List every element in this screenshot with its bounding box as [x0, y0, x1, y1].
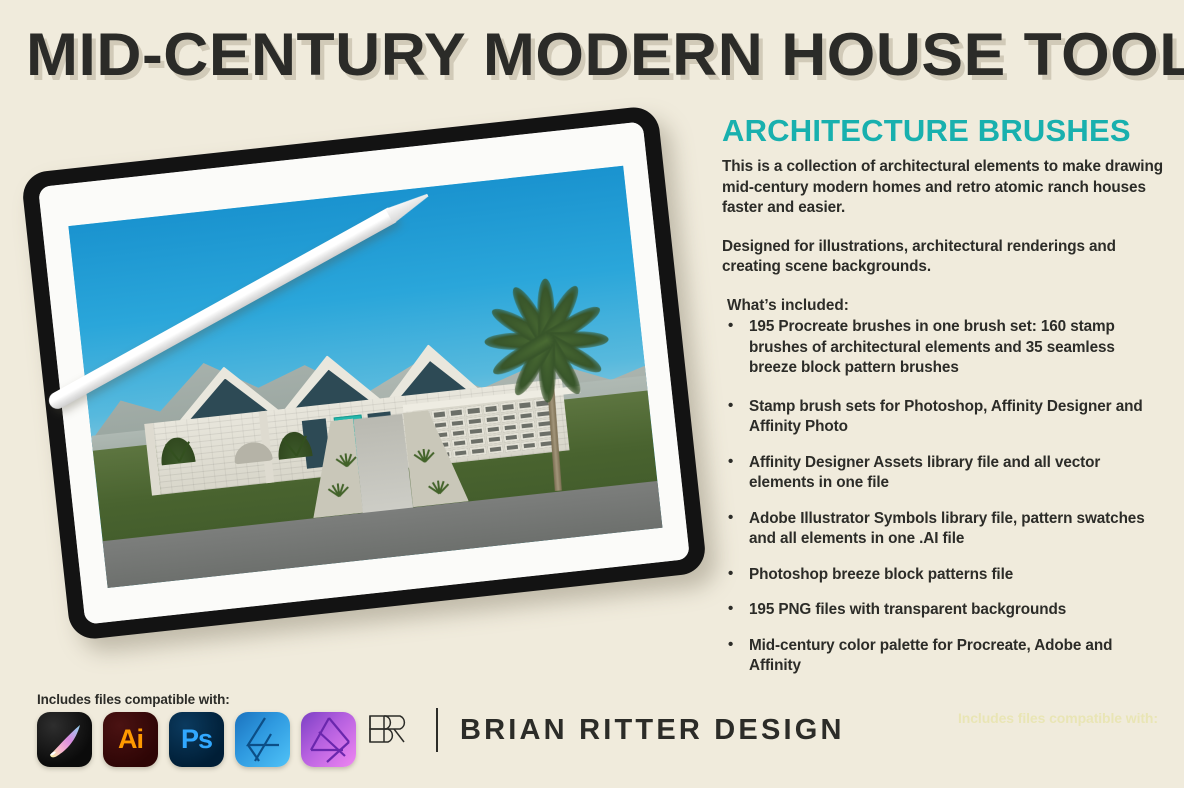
list-item: Affinity Designer Assets library file an… — [722, 453, 1166, 494]
agave-3 — [412, 445, 434, 463]
agave-1 — [334, 450, 356, 468]
list-item: Mid-century color palette for Procreate,… — [722, 636, 1166, 677]
brand-name: BRIAN RITTER DESIGN — [460, 714, 845, 747]
adobe-illustrator-icon: Ai — [103, 712, 158, 767]
palm-tree — [473, 267, 630, 499]
intro-paragraph-2: Designed for illustrations, architectura… — [722, 237, 1166, 278]
affinity-designer-icon — [235, 712, 290, 767]
whats-included-label: What’s included: — [727, 296, 1166, 317]
brian-ritter-monogram-icon — [362, 708, 414, 752]
affinity-photo-glyph — [301, 712, 356, 767]
list-item: Adobe Illustrator Symbols library file, … — [722, 509, 1166, 550]
shrub-2 — [276, 430, 313, 460]
illustrator-label: Ai — [103, 712, 158, 767]
list-item: Stamp brush sets for Photoshop, Affinity… — [722, 397, 1166, 438]
page-title: MID-CENTURY MODERN HOUSE TOOLKIT — [26, 20, 1184, 90]
intro-paragraph-1: This is a collection of architectural el… — [722, 157, 1166, 219]
affinity-designer-glyph — [235, 712, 290, 767]
footer: Includes files compatible with: — [0, 686, 1184, 788]
agave-2 — [326, 480, 348, 498]
brand-lockup: BRIAN RITTER DESIGN — [362, 708, 845, 752]
poster-canvas: MID-CENTURY MODERN HOUSE TOOLKIT — [0, 0, 1184, 788]
feature-list: 195 Procreate brushes in one brush set: … — [722, 317, 1166, 677]
list-item: 195 Procreate brushes in one brush set: … — [722, 317, 1166, 379]
tablet-screen — [38, 121, 690, 624]
section-heading: ARCHITECTURE BRUSHES — [722, 113, 1166, 149]
shrub-1 — [159, 435, 196, 465]
list-item: 195 PNG files with transparent backgroun… — [722, 600, 1166, 621]
procreate-brush-glyph — [37, 712, 92, 767]
app-icon-row: Ai Ps — [37, 712, 356, 767]
photoshop-label: Ps — [169, 712, 224, 767]
palm-crown — [473, 267, 618, 394]
description-column: ARCHITECTURE BRUSHES This is a collectio… — [722, 113, 1166, 692]
tablet-illustration — [44, 138, 704, 628]
list-item: Photoshop breeze block patterns file — [722, 565, 1166, 586]
brand-divider — [436, 708, 438, 752]
procreate-icon — [37, 712, 92, 767]
compatible-label: Includes files compatible with: — [37, 692, 230, 707]
affinity-photo-icon — [301, 712, 356, 767]
agave-4 — [427, 476, 449, 494]
adobe-photoshop-icon: Ps — [169, 712, 224, 767]
